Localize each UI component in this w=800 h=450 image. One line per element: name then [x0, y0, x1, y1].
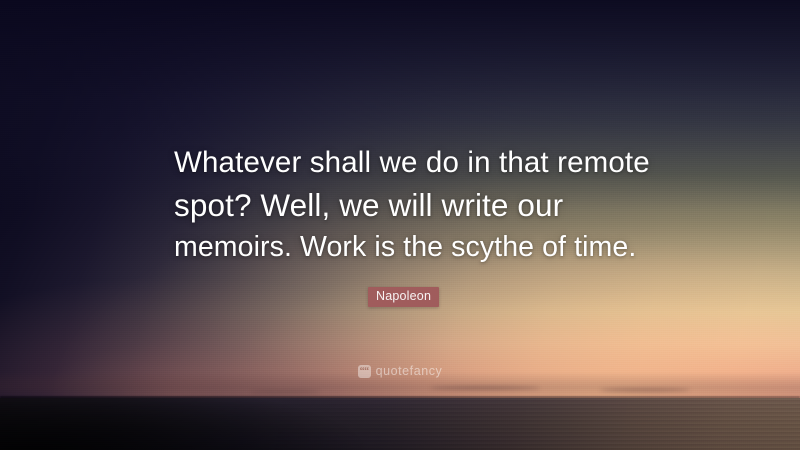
quote-line: spot? Well, we will write our	[174, 184, 644, 226]
watermark-brand: quotefancy	[376, 364, 443, 378]
quote-text: Whatever shall we do in that remote spot…	[174, 142, 644, 268]
quote-line: Whatever shall we do in that remote	[174, 142, 644, 184]
quote-line: memoirs. Work is the scythe of time.	[174, 226, 644, 268]
content-layer: Whatever shall we do in that remote spot…	[0, 0, 800, 450]
author-badge: Napoleon	[368, 287, 439, 307]
watermark: ““ quotefancy	[0, 364, 800, 378]
quote-mark-badge-icon: ““	[358, 365, 371, 378]
quote-wallpaper: Whatever shall we do in that remote spot…	[0, 0, 800, 450]
